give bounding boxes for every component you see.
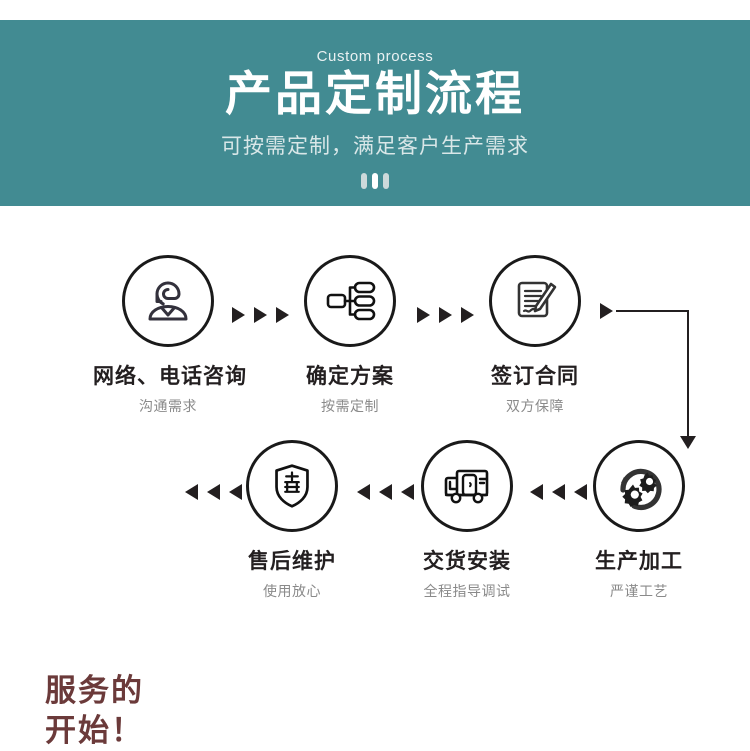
step-desc: 沟通需求: [93, 396, 243, 416]
flow-connector-arrow: [600, 301, 700, 456]
dot-right-icon: [383, 173, 389, 189]
triangle-right-icon: [254, 307, 267, 323]
step-consultation: 网络、电话咨询 沟通需求: [93, 255, 243, 416]
service-start-line2: 开始！: [45, 712, 144, 751]
service-start-text: 服务的 开始！: [45, 672, 144, 751]
banner-dots: [361, 173, 389, 189]
step-aftersales: 售后维护 使用放心: [217, 440, 367, 601]
step-desc: 双方保障: [460, 396, 610, 416]
dot-middle-icon: [372, 173, 378, 189]
step-title: 交货安装: [392, 545, 542, 575]
consultation-person-icon: [122, 255, 214, 347]
page-title: 产品定制流程: [225, 69, 525, 121]
step-desc: 全程指导调试: [392, 581, 542, 601]
connector-horizontal-line: [616, 310, 689, 312]
step-title: 确定方案: [275, 360, 425, 390]
step-desc: 严谨工艺: [564, 581, 714, 601]
step-contract: 签订合同 双方保障: [460, 255, 610, 416]
step-desc: 使用放心: [217, 581, 367, 601]
gears-production-icon: [593, 440, 685, 532]
shield-aftersales-icon: [246, 440, 338, 532]
process-flow: 网络、电话咨询 沟通需求 确定方案 按需定制: [0, 206, 750, 643]
dot-left-icon: [361, 173, 367, 189]
step-production: 生产加工 严谨工艺: [564, 440, 714, 601]
triangle-left-icon: [530, 484, 543, 500]
connector-vertical-line: [687, 310, 689, 438]
step-plan: 确定方案 按需定制: [275, 255, 425, 416]
step-title: 生产加工: [564, 545, 714, 575]
banner-subtitle: 可按需定制，满足客户生产需求: [221, 130, 529, 160]
flowchart-plan-icon: [304, 255, 396, 347]
triangle-right-icon: [439, 307, 452, 323]
step-title: 网络、电话咨询: [93, 360, 243, 390]
step-delivery: 交货安装 全程指导调试: [392, 440, 542, 601]
service-start-line1: 服务的: [45, 672, 144, 712]
custom-process-infographic: Custom process 产品定制流程 可按需定制，满足客户生产需求: [0, 0, 750, 643]
triangle-left-icon: [357, 484, 370, 500]
contract-signing-icon: [489, 255, 581, 347]
triangle-right-icon: [600, 303, 613, 319]
delivery-truck-icon: [421, 440, 513, 532]
triangle-left-icon: [379, 484, 392, 500]
banner-eyebrow: Custom process: [317, 48, 434, 65]
step-desc: 按需定制: [275, 396, 425, 416]
step-title: 签订合同: [460, 360, 610, 390]
triangle-right-icon: [417, 307, 430, 323]
triangle-left-icon: [185, 484, 198, 500]
triangle-right-icon: [232, 307, 245, 323]
page-banner: Custom process 产品定制流程 可按需定制，满足客户生产需求: [0, 20, 750, 206]
step-title: 售后维护: [217, 545, 367, 575]
